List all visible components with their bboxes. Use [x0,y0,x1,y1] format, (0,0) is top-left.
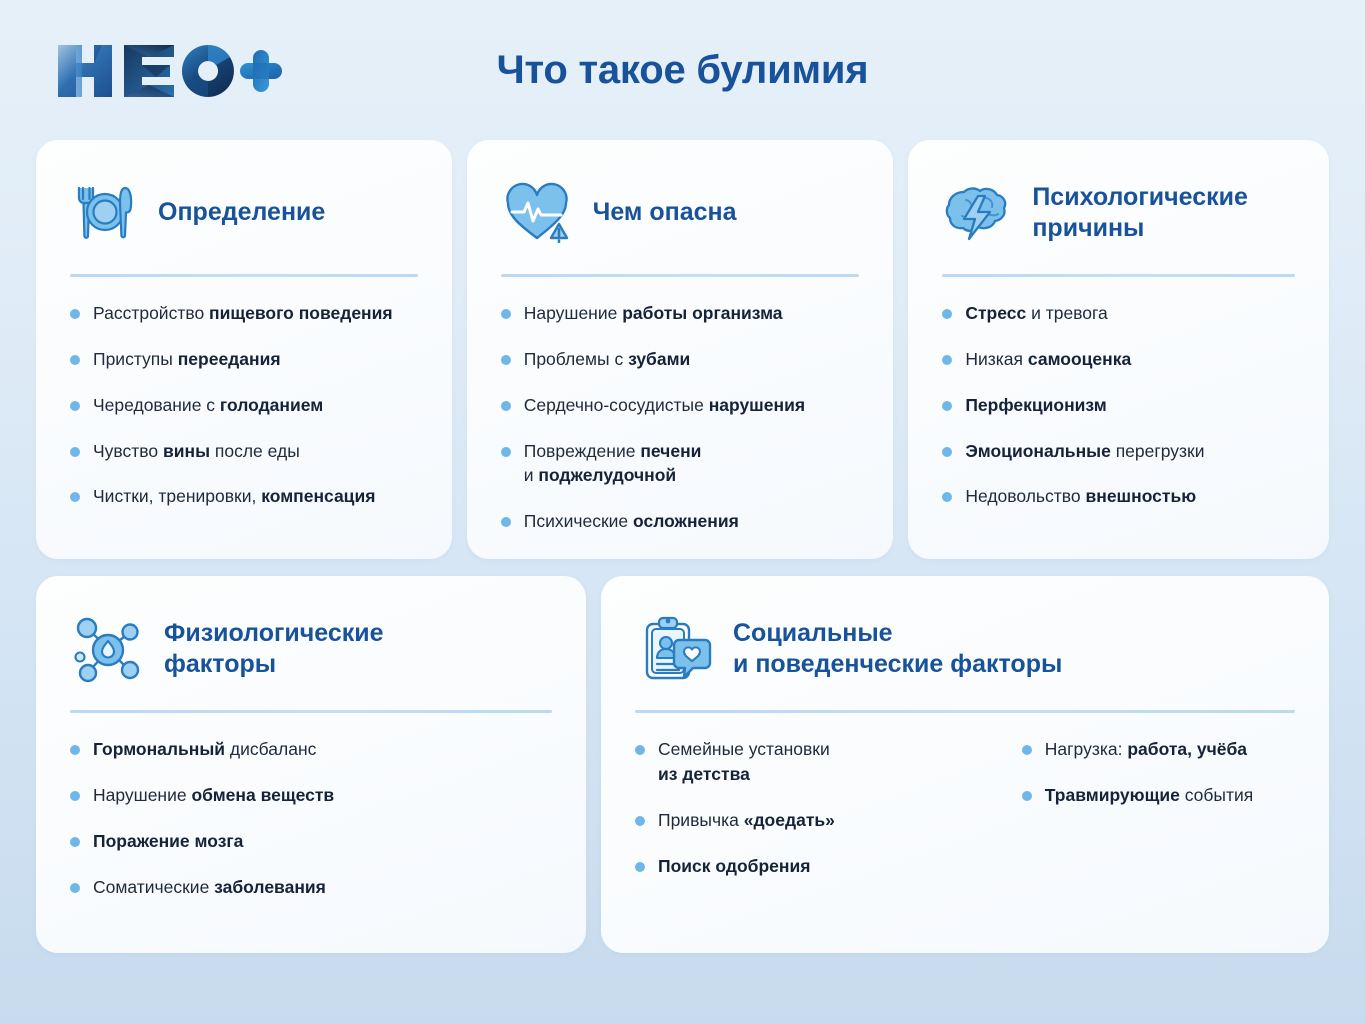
bullet-dot-icon [942,492,952,502]
header-divider [70,274,418,277]
bullet-list-left: Семейные установкииз детстваПривычка «до… [635,737,974,878]
bullet-text: Гормональный дисбаланс [93,737,316,762]
bullet-item: Нагрузка: работа, учёба [1022,737,1295,762]
bullet-dot-icon [1022,791,1032,801]
bullet-dot-icon [942,401,952,411]
bullet-text: Эмоциональные перегрузки [965,439,1204,464]
page-title: Что такое булимия [0,48,1365,93]
bullet-dot-icon [501,401,511,411]
bullet-item: Психические осложнения [501,509,860,534]
card-danger: Чем опасна Нарушение работы организмаПро… [467,140,894,559]
card-title: Психологическиепричины [1032,182,1248,245]
bullet-dot-icon [70,309,80,319]
bullet-list: Стресс и тревогаНизкая самооценкаПерфекц… [942,301,1295,509]
bullet-item: Недовольство внешностью [942,484,1295,509]
bullet-text: Семейные установкииз детства [658,737,830,787]
clipboard-person-heart-icon [635,612,715,686]
bullet-columns: Семейные установкииз детстваПривычка «до… [635,737,1295,878]
bullet-dot-icon [70,791,80,801]
bullet-dot-icon [70,447,80,457]
bullet-item: Низкая самооценка [942,347,1295,372]
bullet-item: Стресс и тревога [942,301,1295,326]
heart-pulse-warning-icon [501,178,575,248]
bullet-text: Чувство вины после еды [93,439,300,464]
bullet-item: Поиск одобрения [635,854,974,879]
bullet-text: Чистки, тренировки, компенсация [93,484,375,509]
bullet-text: Привычка «доедать» [658,808,835,833]
card-header: Определение [70,170,418,256]
bullet-dot-icon [942,355,952,365]
bullet-dot-icon [635,862,645,872]
bullet-item: Нарушение работы организма [501,301,860,326]
bullet-dot-icon [70,837,80,847]
bullet-dot-icon [635,816,645,826]
bullet-item: Поражение мозга [70,829,552,854]
card-physiological: Физиологическиефакторы Гормональный дисб… [36,576,586,953]
bullet-dot-icon [501,355,511,365]
card-title: Чем опасна [593,197,737,229]
bullet-item: Травмирующие события [1022,783,1295,808]
page-header: Что такое булимия [0,0,1365,140]
bullet-text: Перфекционизм [965,393,1106,418]
bullet-item: Эмоциональные перегрузки [942,439,1295,464]
bullet-item: Чувство вины после еды [70,439,418,464]
bullet-item: Гормональный дисбаланс [70,737,552,762]
cards-grid: Определение Расстройство пищевого поведе… [0,140,1365,953]
bullet-dot-icon [70,745,80,755]
bullet-dot-icon [1022,745,1032,755]
bullet-dot-icon [501,517,511,527]
bullet-text: Поиск одобрения [658,854,810,879]
card-social: Социальныеи поведенческие факторы Семейн… [601,576,1329,953]
cards-row-bottom: Физиологическиефакторы Гормональный дисб… [36,576,1329,953]
bullet-text: Повреждение печении поджелудочной [524,439,702,489]
bullet-text: Нарушение работы организма [524,301,783,326]
bullet-text: Недовольство внешностью [965,484,1196,509]
bullet-item: Чистки, тренировки, компенсация [70,484,418,509]
plate-fork-knife-icon [70,178,140,248]
bullet-list: Гормональный дисбалансНарушение обмена в… [70,737,552,899]
bullet-text: Низкая самооценка [965,347,1131,372]
bullet-item: Перфекционизм [942,393,1295,418]
bullet-item: Приступы переедания [70,347,418,372]
bullet-item: Чередование с голоданием [70,393,418,418]
header-divider [635,710,1295,713]
bullet-item: Соматические заболевания [70,875,552,900]
molecule-hormone-icon [70,613,146,685]
bullet-dot-icon [70,883,80,893]
card-title: Физиологическиефакторы [164,618,384,681]
card-header: Психологическиепричины [942,170,1295,256]
card-title: Определение [158,197,325,229]
bullet-text: Расстройство пищевого поведения [93,301,393,326]
brain-lightning-icon [942,180,1014,246]
bullet-text: Проблемы с зубами [524,347,691,372]
card-title: Социальныеи поведенческие факторы [733,618,1062,681]
bullet-text: Приступы переедания [93,347,281,372]
header-divider [942,274,1295,277]
bullet-text: Соматические заболевания [93,875,326,900]
card-header: Чем опасна [501,170,860,256]
card-header: Социальныеи поведенческие факторы [635,606,1295,692]
cards-row-top: Определение Расстройство пищевого поведе… [36,140,1329,559]
bullet-dot-icon [501,309,511,319]
bullet-text: Стресс и тревога [965,301,1107,326]
bullet-item: Семейные установкииз детства [635,737,974,787]
bullet-item: Нарушение обмена веществ [70,783,552,808]
bullet-item: Сердечно-сосудистые нарушения [501,393,860,418]
bullet-item: Повреждение печении поджелудочной [501,439,860,489]
bullet-text: Психические осложнения [524,509,739,534]
bullet-item: Проблемы с зубами [501,347,860,372]
bullet-text: Травмирующие события [1045,783,1254,808]
bullet-list: Расстройство пищевого поведенияПриступы … [70,301,418,509]
header-divider [501,274,860,277]
bullet-text: Нагрузка: работа, учёба [1045,737,1247,762]
card-psychological: Психологическиепричины Стресс и тревогаН… [908,140,1329,559]
bullet-item: Привычка «доедать» [635,808,974,833]
card-definition: Определение Расстройство пищевого поведе… [36,140,452,559]
bullet-dot-icon [635,745,645,755]
bullet-list-right: Нагрузка: работа, учёбаТравмирующие собы… [1022,737,1295,878]
bullet-text: Поражение мозга [93,829,243,854]
bullet-text: Нарушение обмена веществ [93,783,334,808]
bullet-dot-icon [501,447,511,457]
bullet-dot-icon [942,309,952,319]
bullet-text: Чередование с голоданием [93,393,323,418]
bullet-text: Сердечно-сосудистые нарушения [524,393,805,418]
bullet-dot-icon [70,355,80,365]
bullet-item: Расстройство пищевого поведения [70,301,418,326]
bullet-dot-icon [942,447,952,457]
header-divider [70,710,552,713]
bullet-list: Нарушение работы организмаПроблемы с зуб… [501,301,860,534]
card-header: Физиологическиефакторы [70,606,552,692]
bullet-dot-icon [70,492,80,502]
bullet-dot-icon [70,401,80,411]
